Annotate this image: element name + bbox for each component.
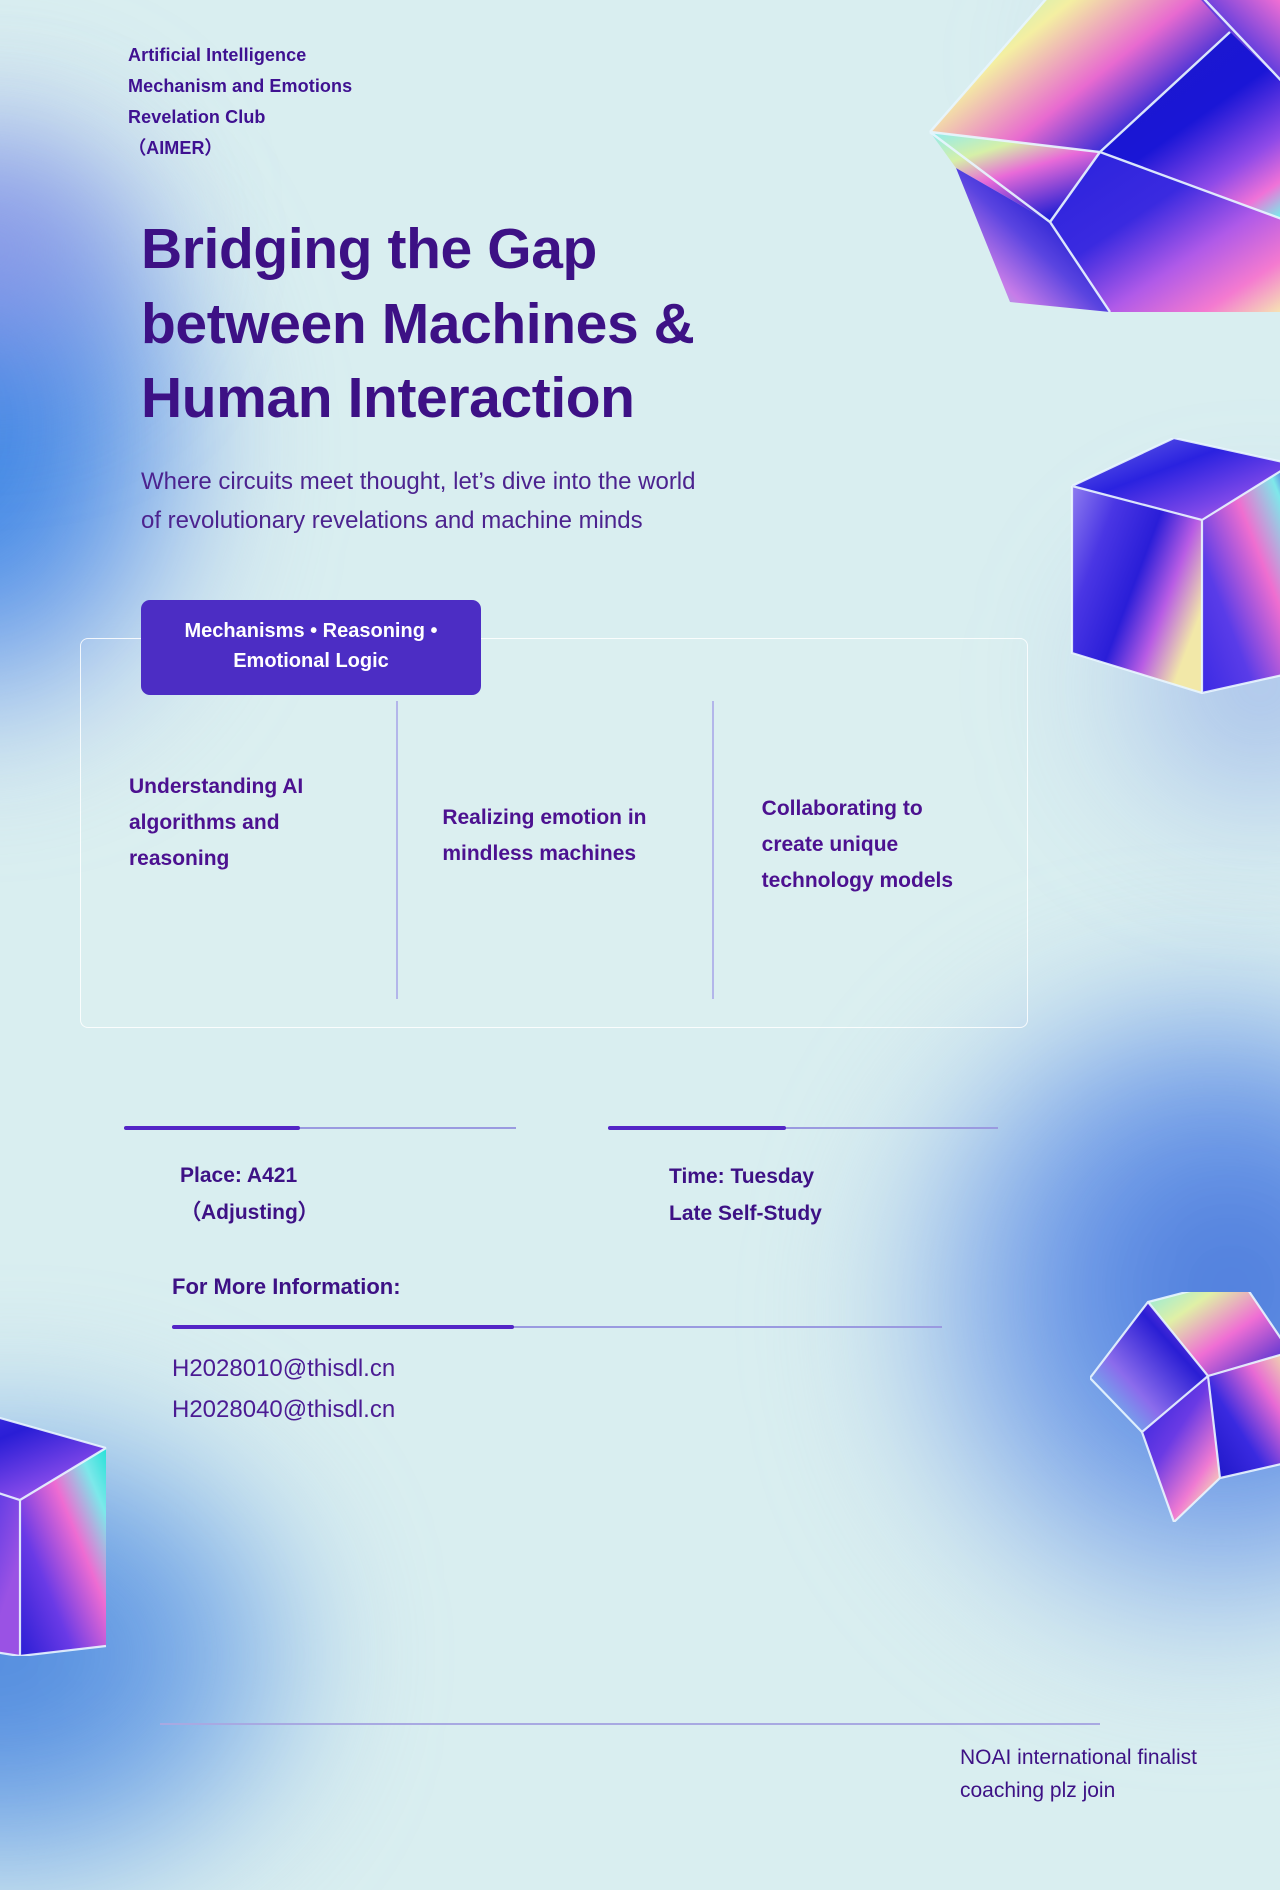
page-subtitle: Where circuits meet thought, let’s dive … [141,462,861,541]
page-subtitle-line-2: of revolutionary revelations and machine… [141,501,861,540]
topics-card: Understanding AI algorithms and reasonin… [80,638,1028,1028]
club-name-line-3: Revelation Club [128,102,352,133]
time-block: Time: Tuesday Late Self-Study [669,1159,822,1232]
place-divider [124,1126,516,1130]
footer-note: NOAI international finalist coaching plz… [960,1742,1240,1807]
footer-divider [160,1723,1100,1725]
topics-badge-line-1: Mechanisms • Reasoning • [155,616,467,646]
club-name-line-2: Mechanism and Emotions [128,71,352,102]
contact-heading: For More Information: [172,1274,401,1300]
club-name-line-1: Artificial Intelligence [128,40,352,71]
time-divider [608,1126,998,1130]
topic-1-line-3: reasoning [129,841,303,877]
time-line-1: Time: Tuesday [669,1159,822,1196]
topics-badge-line-2: Emotional Logic [155,646,467,676]
glass-cube-bottom-left-icon [0,1396,170,1656]
topic-2-line-2: mindless machines [442,836,646,872]
topic-column-1: Understanding AI algorithms and reasonin… [81,639,396,1027]
footer-note-line-1: NOAI international finalist [960,1742,1240,1775]
glass-octahedron-bottom-right-icon [1090,1292,1280,1522]
club-name-abbreviation: （AIMER） [128,133,352,164]
topics-badge: Mechanisms • Reasoning • Emotional Logic [141,600,481,695]
glass-octahedron-top-right-icon [860,0,1280,312]
contact-email-1[interactable]: H2028010@thisdl.cn [172,1348,395,1389]
time-line-2: Late Self-Study [669,1196,822,1233]
topic-1-line-2: algorithms and [129,805,303,841]
topic-3-line-3: technology models [762,863,953,899]
contact-email-2[interactable]: H2028040@thisdl.cn [172,1389,395,1430]
page-title-line-2: between Machines & [141,287,841,362]
contact-emails: H2028010@thisdl.cn H2028040@thisdl.cn [172,1348,395,1431]
place-block: Place: A421 （Adjusting） [180,1158,319,1231]
page-subtitle-line-1: Where circuits meet thought, let’s dive … [141,462,861,501]
topic-column-2: Realizing emotion in mindless machines [396,639,711,1027]
page-title-line-1: Bridging the Gap [141,212,841,287]
contact-divider [172,1325,942,1329]
footer-note-line-2: coaching plz join [960,1775,1240,1808]
club-name: Artificial Intelligence Mechanism and Em… [128,40,352,165]
page-title: Bridging the Gap between Machines & Huma… [141,212,841,436]
page-title-line-3: Human Interaction [141,361,841,436]
topic-1-line-1: Understanding AI [129,769,303,805]
topic-2-line-1: Realizing emotion in [442,800,646,836]
place-line-2: （Adjusting） [180,1195,319,1232]
place-line-1: Place: A421 [180,1158,319,1195]
glass-cube-right-icon [1062,438,1280,698]
topic-3-line-2: create unique [762,827,953,863]
topic-3-line-1: Collaborating to [762,791,953,827]
topic-column-3: Collaborating to create unique technolog… [712,639,1027,1027]
